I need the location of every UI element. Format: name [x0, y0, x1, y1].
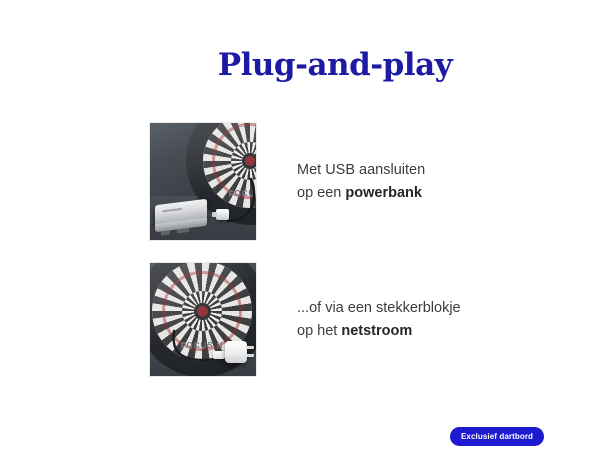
adapter-prong-bottom — [246, 354, 254, 357]
page-title: Plug-and-play — [70, 47, 600, 83]
feature-row-netstroom: FOCUS II ...of via een stekkerblokje op … — [149, 262, 461, 377]
caption-line-2-prefix: op een — [297, 185, 345, 201]
caption-line-1: ...of via een stekkerblokje — [297, 297, 461, 319]
usb-connector — [213, 351, 225, 359]
caption-line-1: Met USB aansluiten — [297, 159, 425, 181]
caption-line-2: op een powerbank — [297, 182, 425, 204]
usb-connector-tip — [212, 212, 217, 217]
adapter-prong-top — [246, 346, 254, 349]
feature-caption-netstroom: ...of via een stekkerblokje op het netst… — [297, 297, 461, 342]
caption-line-2-emphasis: powerbank — [345, 185, 422, 201]
content-panel-top-rule — [70, 2, 600, 3]
caption-line-2-prefix: op het — [297, 323, 341, 339]
powerbank-brand-mark — [162, 208, 182, 212]
dartboard-with-wall-adapter-photo[interactable]: FOCUS II — [149, 262, 257, 377]
page-root: Plug-and-play FOCUS II — [0, 0, 600, 450]
caption-line-2: op het netstroom — [297, 320, 461, 342]
feature-row-powerbank: FOCUS II Met USB aansluiten op een power — [149, 122, 425, 241]
status-badge-exclusief-dartbord[interactable]: Exclusief dartbord — [450, 427, 544, 446]
feature-caption-powerbank: Met USB aansluiten op een powerbank — [297, 159, 425, 204]
wall-power-adapter — [225, 341, 247, 363]
dartboard-with-powerbank-photo[interactable]: FOCUS II — [149, 122, 257, 241]
usb-connector — [216, 209, 229, 220]
caption-line-2-emphasis: netstroom — [341, 323, 412, 339]
